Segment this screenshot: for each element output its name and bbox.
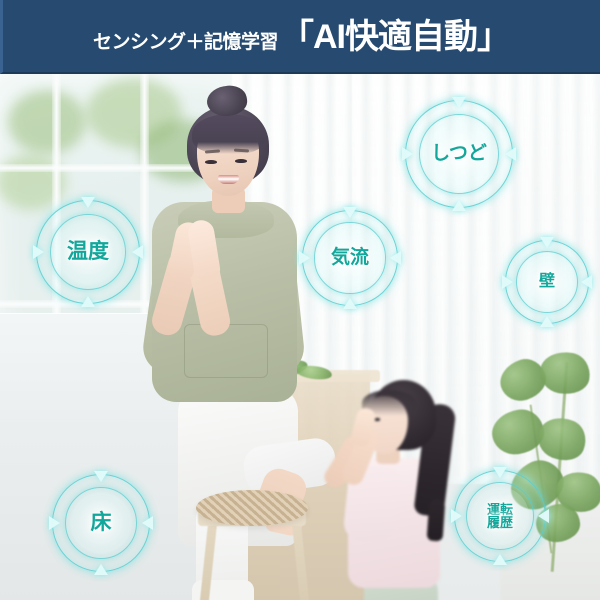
woman-mouth xyxy=(218,175,239,184)
sensor-badge-floor[interactable]: 床 xyxy=(52,474,150,572)
badge-label: しつど xyxy=(431,144,487,163)
sensor-badge-wall[interactable]: 壁 xyxy=(505,240,589,324)
sensor-badge-temperature[interactable]: 温度 xyxy=(36,200,140,304)
product-feature-banner: センシング＋記憶学習 「AI快適自動」 xyxy=(0,0,600,600)
woman-hoodie-pocket xyxy=(184,324,268,378)
badge-arrow-bottom-icon xyxy=(94,564,108,575)
badge-arrow-bottom-icon xyxy=(452,200,466,211)
badge-arrow-top-icon xyxy=(94,471,108,482)
badge-arrow-bottom-icon xyxy=(540,316,554,327)
woman-eye xyxy=(235,159,247,163)
badge-arrow-left-icon xyxy=(49,516,60,530)
badge-arrow-right-icon xyxy=(581,275,592,289)
header-title: 「AI快適自動」 xyxy=(280,20,510,54)
badge-arrow-bottom-icon xyxy=(343,298,357,309)
badge-arrow-left-icon xyxy=(33,245,44,259)
badge-arrow-left-icon xyxy=(502,275,513,289)
sensor-badge-humidity[interactable]: しつど xyxy=(405,100,513,208)
badge-label: 気流 xyxy=(331,248,369,267)
badge-arrow-bottom-icon xyxy=(81,296,95,307)
sensor-badge-airflow[interactable]: 気流 xyxy=(302,210,398,306)
badge-arrow-top-icon xyxy=(540,237,554,248)
header-inner: センシング＋記憶学習 「AI快適自動」 xyxy=(93,20,510,54)
window-foliage xyxy=(8,90,86,154)
sensor-badge-operation-history[interactable]: 運転 履歴 xyxy=(454,470,546,562)
stool-seat xyxy=(196,490,308,526)
badge-arrow-top-icon xyxy=(493,467,507,478)
badge-arrow-top-icon xyxy=(343,207,357,218)
badge-label: 運転 履歴 xyxy=(487,503,513,530)
badge-label: 温度 xyxy=(67,241,109,262)
badge-arrow-top-icon xyxy=(81,197,95,208)
woman-hair-front xyxy=(192,114,266,154)
badge-label: 壁 xyxy=(539,274,555,290)
girl-ponytail-tip xyxy=(427,498,446,541)
header-band: センシング＋記憶学習 「AI快適自動」 xyxy=(0,0,600,74)
badge-arrow-right-icon xyxy=(142,516,153,530)
badge-label: 床 xyxy=(91,512,112,533)
badge-arrow-left-icon xyxy=(451,509,462,523)
badge-arrow-top-icon xyxy=(452,97,466,108)
badge-arrow-right-icon xyxy=(538,509,549,523)
badge-arrow-right-icon xyxy=(132,245,143,259)
woman-eye xyxy=(205,160,217,164)
badge-arrow-bottom-icon xyxy=(493,554,507,565)
badge-arrow-left-icon xyxy=(299,251,310,265)
badge-arrow-right-icon xyxy=(505,147,516,161)
header-kicker: センシング＋記憶学習 xyxy=(93,33,278,52)
badge-arrow-left-icon xyxy=(402,147,413,161)
badge-arrow-right-icon xyxy=(390,251,401,265)
